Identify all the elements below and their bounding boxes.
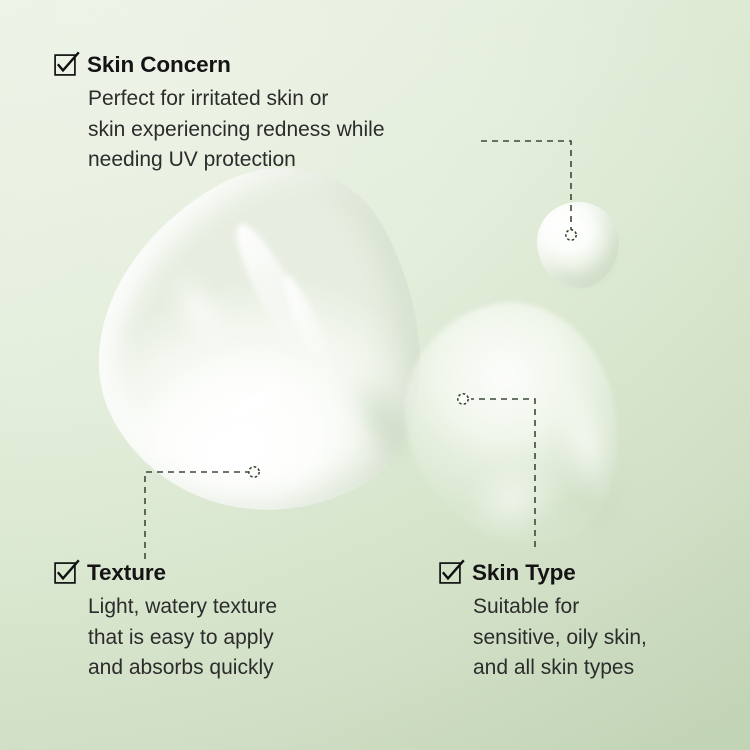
checkbox-checked-icon [54, 562, 76, 584]
callout-skin-concern: Skin Concern Perfect for irritated skin … [54, 52, 385, 176]
callout-skin-concern-header: Skin Concern [54, 52, 385, 78]
callout-skin-concern-body: Perfect for irritated skin or skin exper… [54, 84, 385, 176]
callout-texture-title: Texture [87, 560, 166, 586]
product-infographic: Skin Concern Perfect for irritated skin … [0, 0, 750, 750]
callout-skin-type-body: Suitable for sensitive, oily skin, and a… [439, 592, 647, 684]
checkbox-checked-icon [54, 54, 76, 76]
callout-texture-body: Light, watery texture that is easy to ap… [54, 592, 277, 684]
callout-texture-header: Texture [54, 560, 277, 586]
callout-skin-concern-title: Skin Concern [87, 52, 231, 78]
checkbox-checked-icon [439, 562, 461, 584]
callout-texture: Texture Light, watery texture that is ea… [54, 560, 277, 684]
callout-skin-type-header: Skin Type [439, 560, 647, 586]
callout-skin-type: Skin Type Suitable for sensitive, oily s… [439, 560, 647, 684]
callout-skin-type-title: Skin Type [472, 560, 576, 586]
